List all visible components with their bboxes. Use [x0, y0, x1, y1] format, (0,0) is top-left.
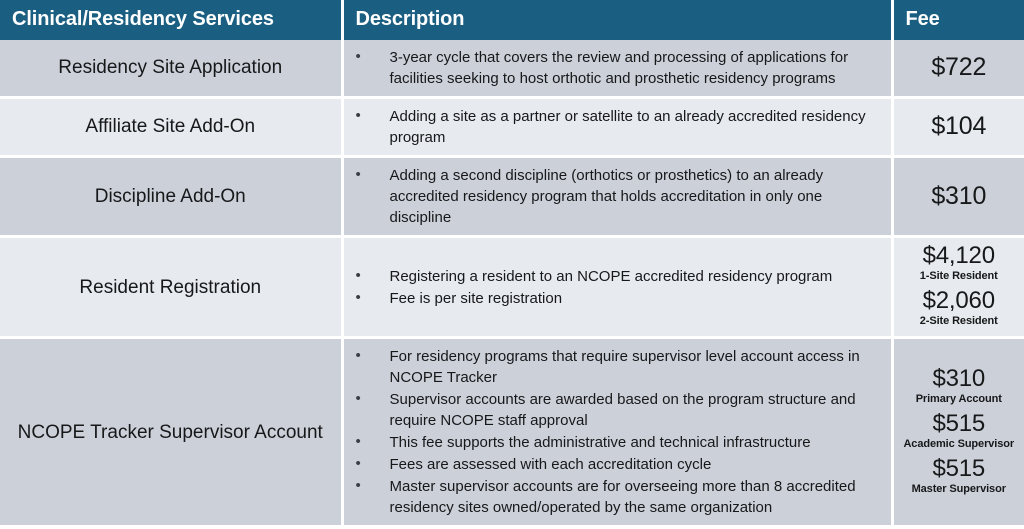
- header-row: Clinical/Residency Services Description …: [0, 0, 1024, 40]
- fee-amount: $2,060: [898, 287, 1021, 315]
- description-bullet-list: Adding a second discipline (orthotics or…: [352, 165, 881, 228]
- fee-group: $104: [898, 112, 1021, 142]
- fee-cell: $104: [892, 98, 1024, 157]
- fee-amount: $104: [898, 112, 1021, 142]
- description-bullet-item: Adding a site as a partner or satellite …: [352, 106, 881, 148]
- fee-amount: $722: [898, 53, 1021, 83]
- fee-amount: $310: [898, 365, 1021, 393]
- description-cell: Adding a site as a partner or satellite …: [342, 98, 892, 157]
- description-bullet-list: 3-year cycle that covers the review and …: [352, 47, 881, 89]
- fee-cell: $4,1201-Site Resident$2,0602-Site Reside…: [892, 237, 1024, 338]
- service-name-cell: Resident Registration: [0, 237, 342, 338]
- fee-label: 2-Site Resident: [898, 315, 1021, 329]
- table-row: Residency Site Application3-year cycle t…: [0, 40, 1024, 98]
- fee-stack: $310: [898, 182, 1021, 212]
- description-bullet-list: Adding a site as a partner or satellite …: [352, 106, 881, 148]
- fee-stack: $722: [898, 53, 1021, 83]
- table-row: Resident RegistrationRegistering a resid…: [0, 237, 1024, 338]
- description-bullet-item: Adding a second discipline (orthotics or…: [352, 165, 881, 228]
- table-header: Clinical/Residency Services Description …: [0, 0, 1024, 40]
- description-bullet-list: Registering a resident to an NCOPE accre…: [352, 266, 881, 309]
- table-row: NCOPE Tracker Supervisor AccountFor resi…: [0, 338, 1024, 527]
- description-bullet-item: 3-year cycle that covers the review and …: [352, 47, 881, 89]
- fee-group: $310Primary Account: [898, 365, 1021, 407]
- fee-group: $515Master Supervisor: [898, 455, 1021, 497]
- description-cell: Registering a resident to an NCOPE accre…: [342, 237, 892, 338]
- fee-group: $515Academic Supervisor: [898, 410, 1021, 452]
- description-bullet-item: For residency programs that require supe…: [352, 346, 881, 388]
- description-bullet-list: For residency programs that require supe…: [352, 346, 881, 518]
- fee-cell: $722: [892, 40, 1024, 98]
- service-name-cell: Discipline Add-On: [0, 157, 342, 237]
- column-header-fee: Fee: [892, 0, 1024, 40]
- column-header-description: Description: [342, 0, 892, 40]
- description-bullet-item: Fee is per site registration: [352, 288, 881, 309]
- table-row: Affiliate Site Add-OnAdding a site as a …: [0, 98, 1024, 157]
- column-header-service: Clinical/Residency Services: [0, 0, 342, 40]
- clinical-residency-fee-table: Clinical/Residency Services Description …: [0, 0, 1024, 528]
- table-row: Discipline Add-OnAdding a second discipl…: [0, 157, 1024, 237]
- fee-amount: $515: [898, 410, 1021, 438]
- description-bullet-item: Master supervisor accounts are for overs…: [352, 476, 881, 518]
- fee-group: $4,1201-Site Resident: [898, 242, 1021, 284]
- fee-stack: $4,1201-Site Resident$2,0602-Site Reside…: [898, 242, 1021, 329]
- fee-group: $2,0602-Site Resident: [898, 287, 1021, 329]
- table-body: Residency Site Application3-year cycle t…: [0, 40, 1024, 527]
- description-bullet-item: Supervisor accounts are awarded based on…: [352, 389, 881, 431]
- service-name-cell: Affiliate Site Add-On: [0, 98, 342, 157]
- description-bullet-item: Fees are assessed with each accreditatio…: [352, 454, 881, 475]
- fee-cell: $310Primary Account$515Academic Supervis…: [892, 338, 1024, 527]
- fee-label: Academic Supervisor: [898, 438, 1021, 452]
- description-bullet-item: This fee supports the administrative and…: [352, 432, 881, 453]
- fee-cell: $310: [892, 157, 1024, 237]
- fee-amount: $4,120: [898, 242, 1021, 270]
- fee-label: 1-Site Resident: [898, 270, 1021, 284]
- service-name-cell: Residency Site Application: [0, 40, 342, 98]
- service-name-cell: NCOPE Tracker Supervisor Account: [0, 338, 342, 527]
- fee-stack: $104: [898, 112, 1021, 142]
- fee-amount: $310: [898, 182, 1021, 212]
- description-cell: 3-year cycle that covers the review and …: [342, 40, 892, 98]
- fee-amount: $515: [898, 455, 1021, 483]
- description-cell: For residency programs that require supe…: [342, 338, 892, 527]
- fee-group: $722: [898, 53, 1021, 83]
- fee-group: $310: [898, 182, 1021, 212]
- description-bullet-item: Registering a resident to an NCOPE accre…: [352, 266, 881, 287]
- fee-label: Master Supervisor: [898, 483, 1021, 497]
- fee-stack: $310Primary Account$515Academic Supervis…: [898, 365, 1021, 497]
- description-cell: Adding a second discipline (orthotics or…: [342, 157, 892, 237]
- fee-label: Primary Account: [898, 393, 1021, 407]
